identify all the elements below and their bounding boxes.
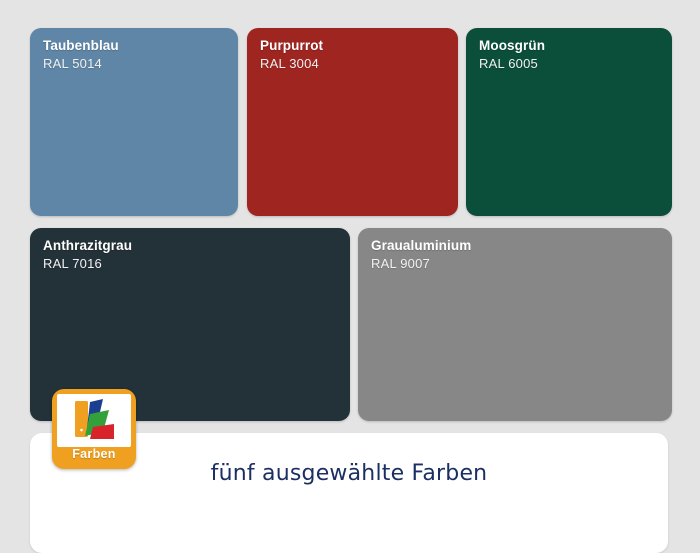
logo-label: Farben — [52, 447, 136, 461]
color-swatch-taubenblau[interactable]: Taubenblau RAL 5014 — [30, 28, 238, 216]
swatch-ral-code: RAL 6005 — [479, 56, 545, 72]
swatch-color-name: Graualuminium — [371, 238, 471, 255]
color-swatch-moosgruen[interactable]: Moosgrün RAL 6005 — [466, 28, 672, 216]
farben-logo-badge[interactable]: Farben — [52, 389, 136, 469]
color-fan-deck-icon — [57, 394, 131, 447]
swatch-ral-code: RAL 5014 — [43, 56, 119, 72]
swatch-ral-code: RAL 9007 — [371, 256, 471, 272]
swatch-label: Anthrazitgrau RAL 7016 — [43, 238, 132, 272]
swatch-label: Graualuminium RAL 9007 — [371, 238, 471, 272]
swatch-ral-code: RAL 3004 — [260, 56, 323, 72]
swatch-ral-code: RAL 7016 — [43, 256, 132, 272]
swatch-label: Moosgrün RAL 6005 — [479, 38, 545, 72]
swatch-color-name: Anthrazitgrau — [43, 238, 132, 255]
swatch-color-name: Moosgrün — [479, 38, 545, 55]
color-swatch-graualuminium[interactable]: Graualuminium RAL 9007 — [358, 228, 672, 421]
swatch-label: Purpurrot RAL 3004 — [260, 38, 323, 72]
color-swatch-purpurrot[interactable]: Purpurrot RAL 3004 — [247, 28, 458, 216]
swatch-label: Taubenblau RAL 5014 — [43, 38, 119, 72]
swatch-color-name: Purpurrot — [260, 38, 323, 55]
color-palette-board: Taubenblau RAL 5014 Purpurrot RAL 3004 M… — [0, 0, 700, 525]
swatch-color-name: Taubenblau — [43, 38, 119, 55]
